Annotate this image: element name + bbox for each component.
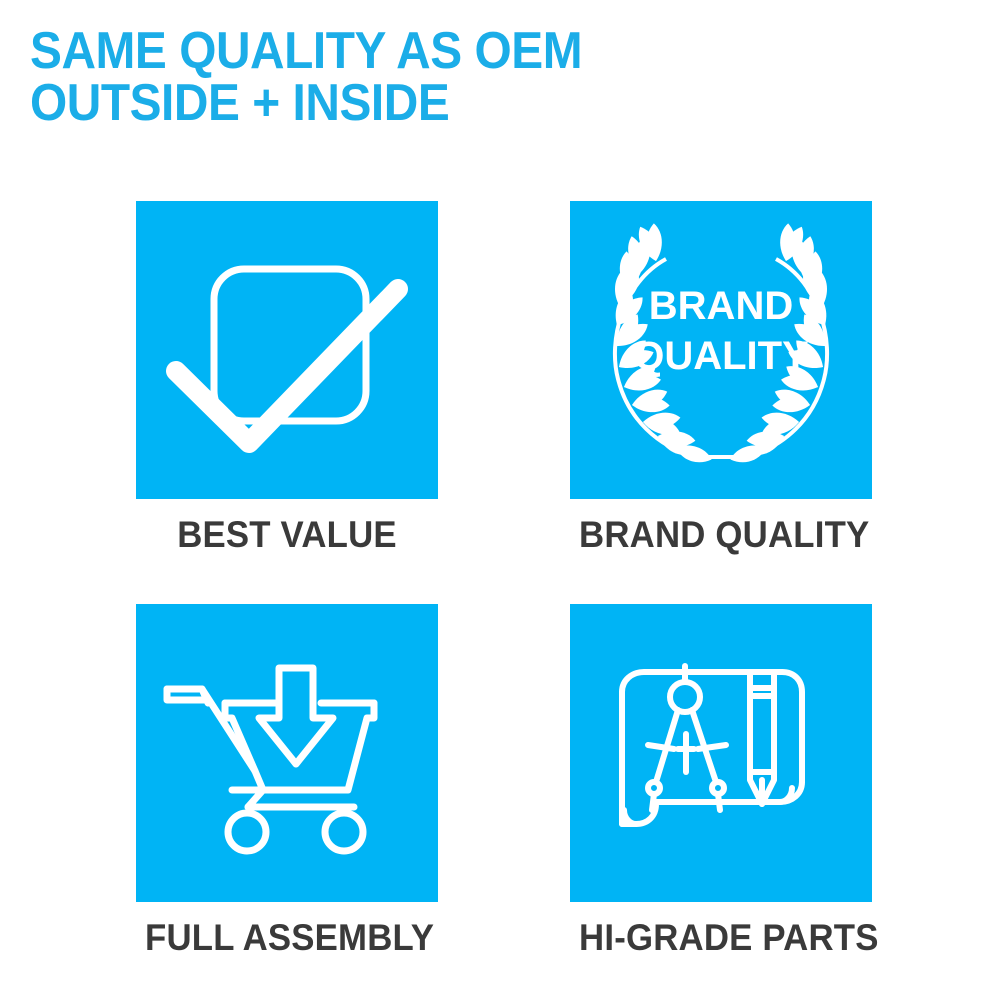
feature-label-full-assembly: FULL ASSEMBLY bbox=[145, 916, 429, 960]
feature-item-hi-grade-parts[interactable]: HI-GRADE PARTS bbox=[570, 604, 872, 960]
feature-item-best-value[interactable]: BEST VALUE bbox=[136, 201, 438, 557]
feature-tile-full-assembly bbox=[136, 604, 438, 902]
wreath-text-quality: QUALITY bbox=[633, 334, 809, 378]
infographic-root: SAME QUALITY AS OEM OUTSIDE + INSIDE BES… bbox=[0, 0, 1000, 1000]
feature-tile-best-value bbox=[136, 201, 438, 499]
feature-label-hi-grade-parts: HI-GRADE PARTS bbox=[579, 916, 863, 960]
feature-grid: BEST VALUE bbox=[0, 0, 1000, 1000]
feature-label-brand-quality: BRAND QUALITY bbox=[579, 513, 863, 557]
feature-tile-brand-quality: BRAND QUALITY bbox=[570, 201, 872, 499]
checkbox-check-icon bbox=[136, 201, 438, 499]
feature-tile-hi-grade-parts bbox=[570, 604, 872, 902]
wreath-text-brand: BRAND bbox=[649, 284, 793, 328]
blueprint-compass-pencil-icon bbox=[570, 604, 872, 902]
feature-label-best-value: BEST VALUE bbox=[145, 513, 429, 557]
laurel-wreath-icon: BRAND QUALITY bbox=[570, 201, 872, 499]
feature-item-brand-quality[interactable]: BRAND QUALITY BRAND QUALITY bbox=[570, 201, 872, 557]
feature-item-full-assembly[interactable]: FULL ASSEMBLY bbox=[136, 604, 438, 960]
shopping-cart-download-icon bbox=[136, 604, 438, 902]
